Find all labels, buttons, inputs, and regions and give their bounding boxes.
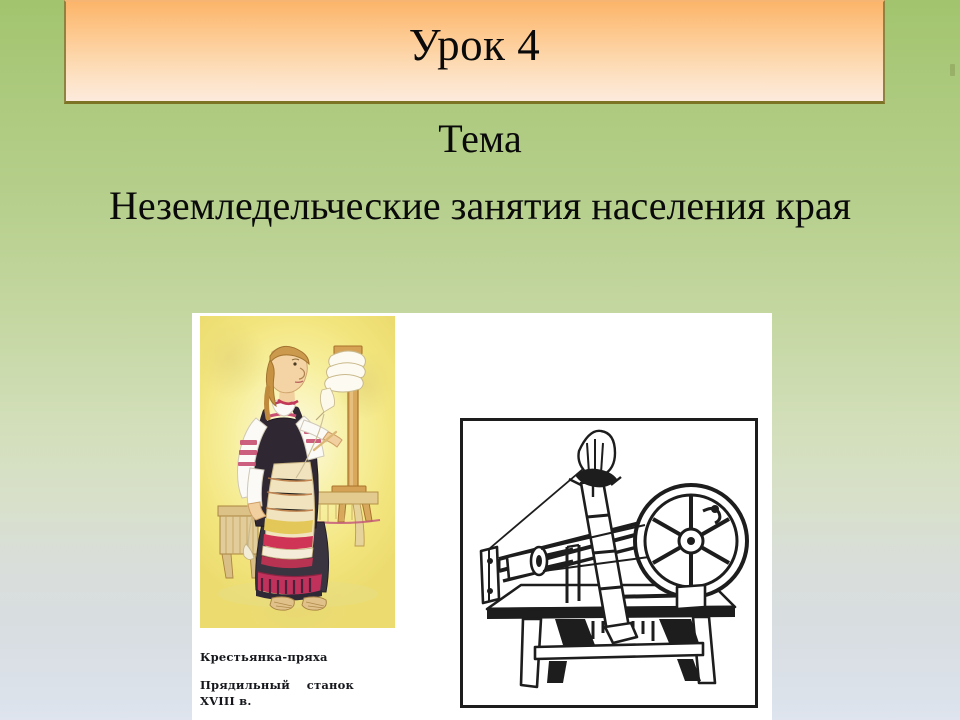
edge-artifact-mark: [950, 64, 955, 76]
title-bar: Урок 4: [64, 0, 885, 104]
engraving-spinning-wheel: [460, 418, 758, 708]
painting-peasant-spinner: [200, 316, 395, 628]
image-captions: Крестьянка-пряха Прядильный станок XVIII…: [200, 650, 450, 708]
slide-root: Урок 4 Тема Неземледельческие занятия на…: [0, 0, 960, 720]
engraving-line-drawing: [463, 421, 755, 705]
lesson-title: Урок 4: [409, 23, 541, 68]
painting-figure-drawing: [200, 316, 395, 628]
picture-panel: Крестьянка-пряха Прядильный станок XVIII…: [192, 313, 772, 720]
caption-century: XVIII в.: [200, 694, 450, 708]
caption-spinning-machine: Прядильный станок: [200, 678, 450, 692]
caption-peasant-spinner: Крестьянка-пряха: [200, 650, 450, 664]
heading-block: Тема Неземледельческие занятия населения…: [20, 118, 940, 233]
topic-label: Тема: [20, 118, 940, 160]
topic-heading: Неземледельческие занятия населения края: [20, 178, 940, 233]
